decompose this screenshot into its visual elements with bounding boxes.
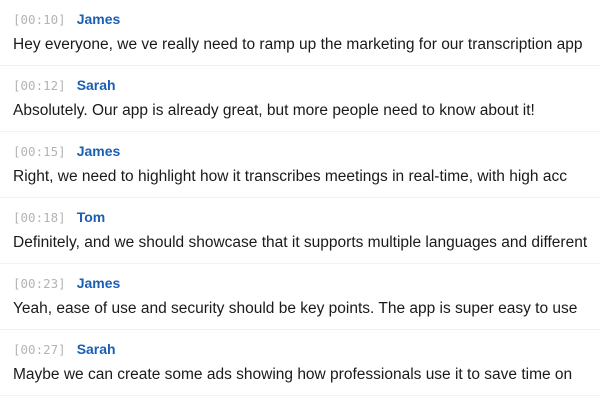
entry-speaker-name[interactable]: Sarah [77, 77, 116, 93]
transcript-entry[interactable]: [00:10] James Hey everyone, we ve really… [0, 0, 600, 66]
transcript-entry-header: [00:27] Sarah [0, 341, 600, 358]
entry-speaker-name[interactable]: James [77, 11, 121, 27]
entry-text[interactable]: Right, we need to highlight how it trans… [0, 160, 600, 187]
transcript-viewer[interactable]: [00:10] James Hey everyone, we ve really… [0, 0, 600, 400]
transcript-entry-header: [00:12] Sarah [0, 77, 600, 94]
entry-speaker-name[interactable]: Tom [77, 209, 106, 225]
entry-timestamp[interactable]: [00:12] [13, 78, 66, 94]
entry-text[interactable]: Hey everyone, we ve really need to ramp … [0, 28, 600, 55]
transcript-entry-header: [00:23] James [0, 275, 600, 292]
entry-timestamp[interactable]: [00:18] [13, 210, 66, 226]
transcript-entry-header: [00:15] James [0, 143, 600, 160]
transcript-entry[interactable]: [00:12] Sarah Absolutely. Our app is alr… [0, 66, 600, 132]
transcript-entry-header: [00:10] James [0, 11, 600, 28]
entry-text[interactable]: Yeah, ease of use and security should be… [0, 292, 600, 319]
entry-speaker-name[interactable]: James [77, 143, 121, 159]
transcript-entry[interactable]: [00:18] Tom Definitely, and we should sh… [0, 198, 600, 264]
entry-timestamp[interactable]: [00:23] [13, 276, 66, 292]
entry-speaker-name[interactable]: James [77, 275, 121, 291]
entry-text[interactable]: Absolutely. Our app is already great, bu… [0, 94, 600, 121]
entry-speaker-name[interactable]: Sarah [77, 341, 116, 357]
transcript-entry[interactable]: [00:23] James Yeah, ease of use and secu… [0, 264, 600, 330]
entry-timestamp[interactable]: [00:15] [13, 144, 66, 160]
transcript-entry[interactable]: [00:15] James Right, we need to highligh… [0, 132, 600, 198]
entry-text[interactable]: Maybe we can create some ads showing how… [0, 358, 600, 385]
transcript-entry-header: [00:18] Tom [0, 209, 600, 226]
entry-timestamp[interactable]: [00:27] [13, 342, 66, 358]
entry-text[interactable]: Definitely, and we should showcase that … [0, 226, 600, 253]
entry-timestamp[interactable]: [00:10] [13, 12, 66, 28]
transcript-entry[interactable]: [00:27] Sarah Maybe we can create some a… [0, 330, 600, 396]
